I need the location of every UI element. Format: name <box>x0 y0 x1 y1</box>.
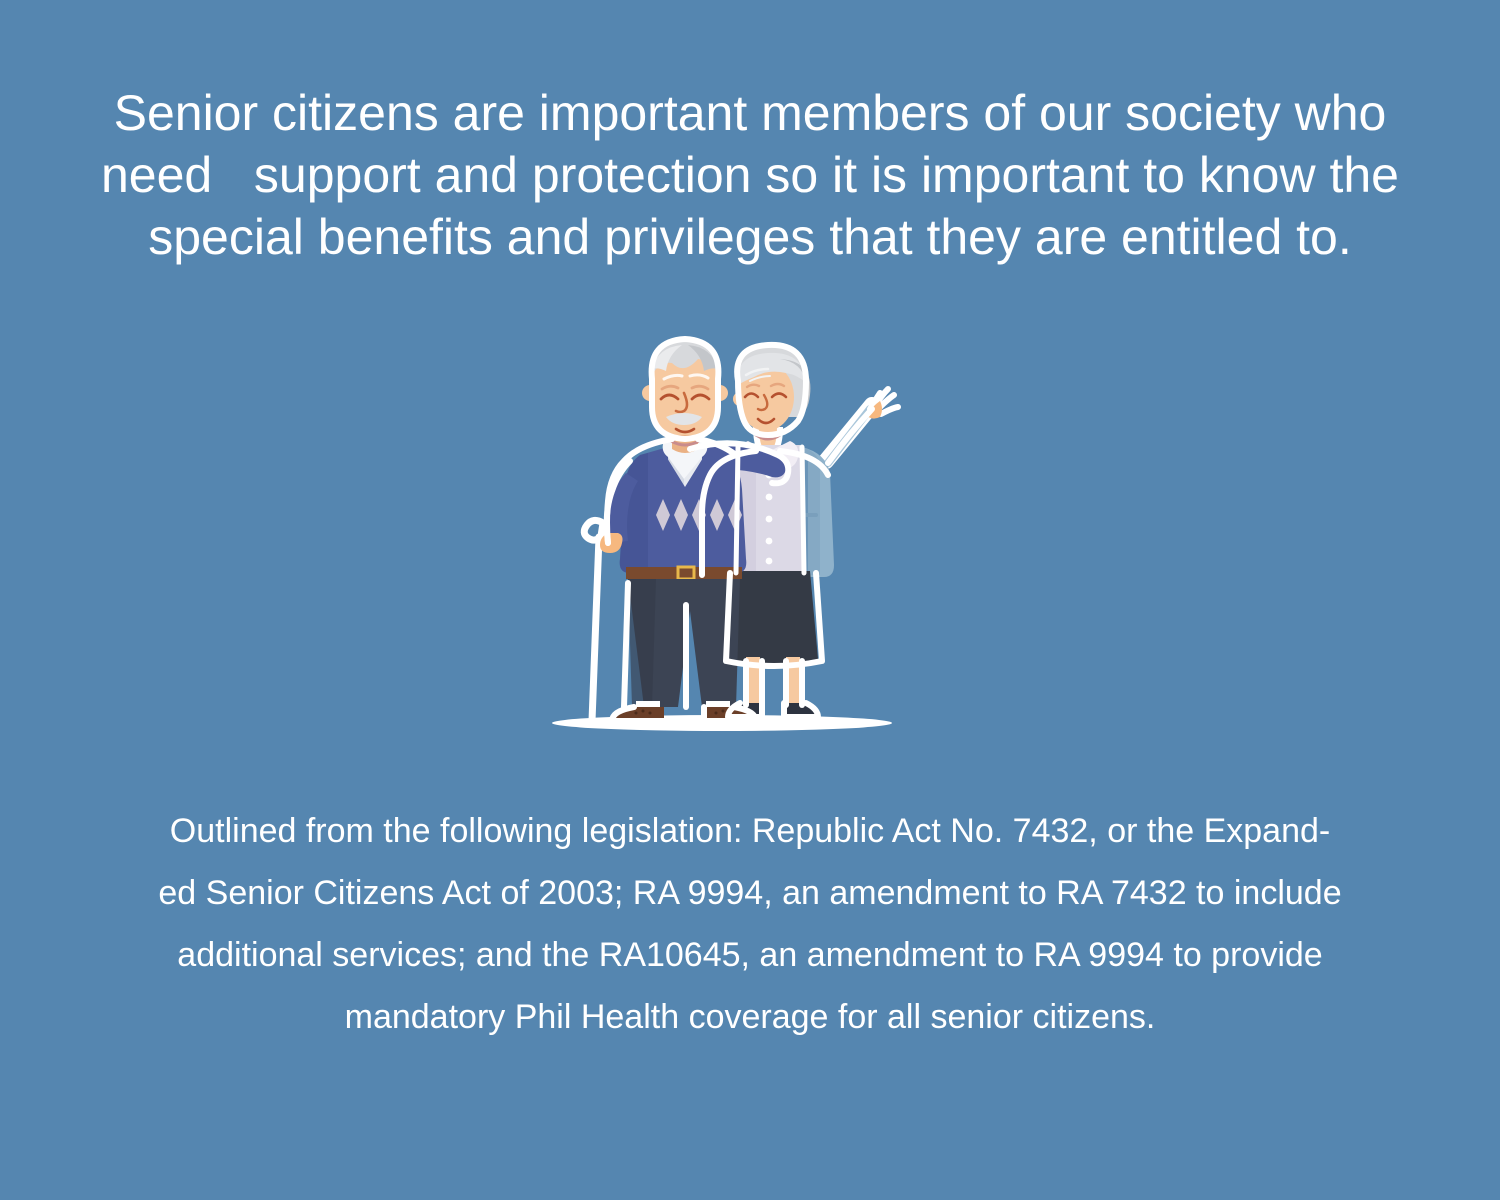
page-title: Senior citizens are important members of… <box>62 82 1438 268</box>
legislation-paragraph: Outlined from the following legislation:… <box>62 800 1438 1048</box>
walking-cane <box>584 520 603 721</box>
elderly-couple-illustration <box>540 335 960 745</box>
poster-canvas: Senior citizens are important members of… <box>0 0 1500 1200</box>
man-belt <box>626 567 742 579</box>
